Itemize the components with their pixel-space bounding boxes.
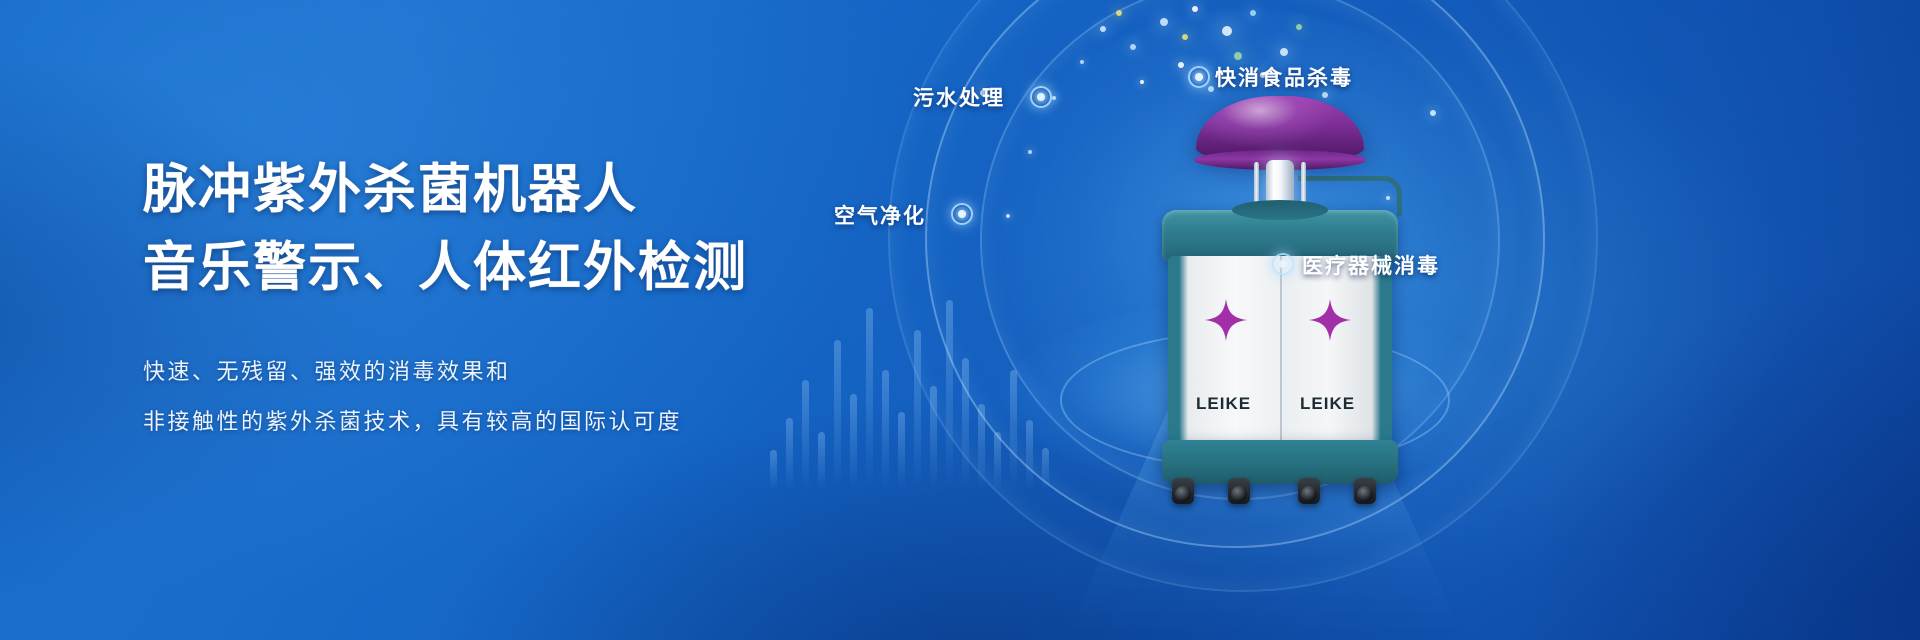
robot-body-panel: LEIKE LEIKE (1168, 256, 1392, 446)
sparkle-dot (1280, 48, 1288, 56)
robot-wheel (1228, 478, 1250, 504)
callout-node-icon (951, 203, 973, 225)
robot-top-slot (1232, 200, 1328, 220)
sparkle-dot (1100, 26, 1106, 32)
callout-waste-water: 污水处理 (913, 82, 1005, 112)
robot-wheel (1298, 478, 1320, 504)
subtitle-line-2: 非接触性的紫外杀菌技术，具有较高的国际认可度 (143, 400, 903, 444)
sparkle-dot (1178, 62, 1184, 68)
headline-line-2: 音乐警示、人体红外检测 (143, 230, 903, 306)
subtitle-line-1: 快速、无残留、强效的消毒效果和 (143, 350, 903, 394)
sparkle-dot (1222, 26, 1232, 36)
sparkle-dot (1430, 110, 1436, 116)
headline-line-1: 脉冲紫外杀菌机器人 (143, 152, 903, 228)
robot-wheel (1172, 478, 1194, 504)
sparkle-dot (1160, 18, 1168, 26)
headline-block: 脉冲紫外杀菌机器人 音乐警示、人体红外检测 快速、无残留、强效的消毒效果和 非接… (143, 152, 903, 444)
sparkle-dot (1234, 52, 1242, 60)
sparkle-dot (1080, 60, 1084, 64)
sparkle-dot (1028, 150, 1032, 154)
panel-divider (1280, 256, 1282, 446)
callout-node-icon (1030, 86, 1052, 108)
brand-logo-right: LEIKE (1300, 394, 1355, 414)
sparkle-dot (1052, 96, 1056, 100)
callout-fmcg-food: 快消食品杀毒 (1215, 62, 1353, 92)
sparkle-dot (1116, 10, 1122, 16)
sparkle-dot (1130, 44, 1136, 50)
callout-node-icon (1272, 253, 1294, 275)
callout-node-icon (1188, 66, 1210, 88)
uv-disinfection-robot: LEIKE LEIKE (1148, 92, 1408, 502)
callout-medical: 医疗器械消毒 (1302, 250, 1440, 280)
promo-banner: 脉冲紫外杀菌机器人 音乐警示、人体红外检测 快速、无残留、强效的消毒效果和 非接… (0, 0, 1920, 640)
sparkle-star-icon (1204, 298, 1248, 342)
sparkle-dot (1250, 10, 1256, 16)
sparkle-dot (1006, 214, 1010, 218)
sparkle-star-icon (1308, 298, 1352, 342)
brand-logo-left: LEIKE (1196, 394, 1251, 414)
sparkle-dot (1192, 6, 1198, 12)
sparkle-dot (1140, 80, 1144, 84)
robot-wheel (1354, 478, 1376, 504)
sparkle-dot (1182, 34, 1188, 40)
sparkle-dot (1296, 24, 1302, 30)
callout-air-purify: 空气净化 (834, 200, 926, 230)
